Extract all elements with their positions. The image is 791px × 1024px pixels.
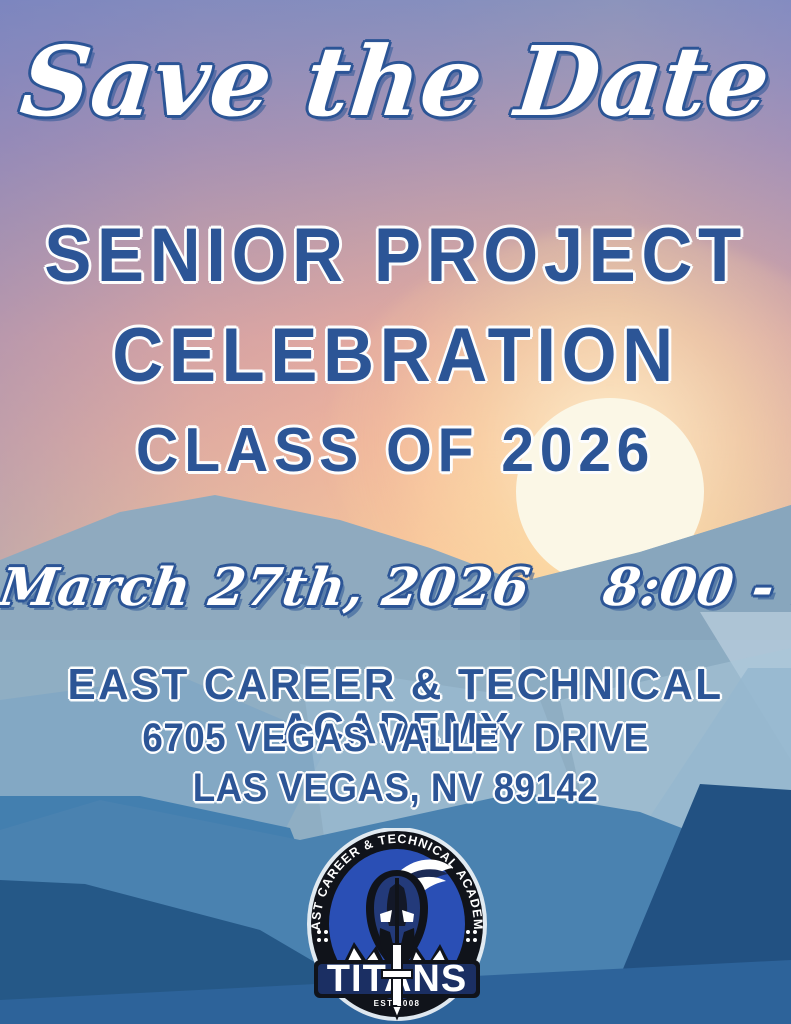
logo-established-text: EST 2008 bbox=[374, 999, 421, 1008]
event-date-time: March 27th, 2026 8:00 - 10:00 am bbox=[0, 562, 791, 614]
event-title-line-2: CELEBRATION bbox=[28, 318, 764, 394]
venue-street-address: 6705 VEGAS VALLEY DRIVE bbox=[32, 718, 760, 758]
event-title-line-1: SENIOR PROJECT bbox=[28, 218, 764, 294]
save-the-date-headline: Save the Date bbox=[0, 34, 791, 130]
save-the-date-flyer: Save the Date SENIOR PROJECT CELEBRATION… bbox=[0, 0, 791, 1024]
event-title-line-3-class-year: CLASS OF 2026 bbox=[20, 420, 771, 482]
venue-city-state-zip: LAS VEGAS, NV 89142 bbox=[32, 768, 760, 808]
school-logo: EAST CAREER & TECHNICAL ACADEMY bbox=[296, 828, 498, 1024]
